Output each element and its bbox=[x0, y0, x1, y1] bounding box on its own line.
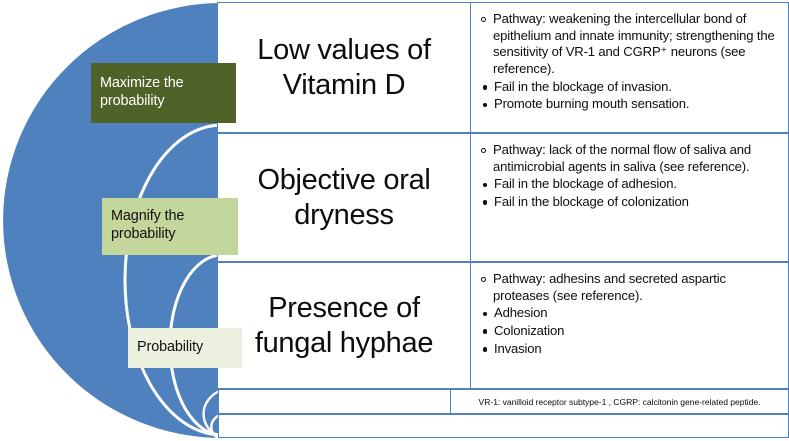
factor-title-box-2[interactable]: Objective oral dryness bbox=[217, 133, 471, 262]
probability-label-maximize[interactable]: Maximize the probability bbox=[91, 63, 236, 123]
empty-bottom-box[interactable] bbox=[218, 414, 789, 438]
factor-detail-box-1[interactable]: Pathway: weakening the intercellular bon… bbox=[470, 2, 789, 133]
factor-title-box-3[interactable]: Presence of fungal hyphae bbox=[217, 262, 471, 389]
footnote-text: VR-1: vanilloid receptor subtype-1 , CGR… bbox=[479, 397, 761, 407]
list-item: Fail in the blockage of invasion. bbox=[481, 79, 781, 96]
diagram-canvas: Maximize the probability Magnify the pro… bbox=[0, 0, 789, 441]
probability-label-maximize-line2: probability bbox=[100, 93, 184, 111]
list-item: Pathway: weakening the intercellular bon… bbox=[481, 11, 781, 78]
footnote-box[interactable]: VR-1: vanilloid receptor subtype-1 , CGR… bbox=[450, 389, 789, 414]
factor-detail-box-3[interactable]: Pathway: adhesins and secreted aspartic … bbox=[470, 262, 789, 389]
factor-title-2-line1: Objective oral bbox=[257, 164, 430, 196]
probability-label-probability-line1: Probability bbox=[137, 339, 203, 357]
list-item: Fail in the blockage of colonization bbox=[481, 194, 781, 211]
list-item: Promote burning mouth sensation. bbox=[481, 96, 781, 113]
factor-detail-3-list: Pathway: adhesins and secreted aspartic … bbox=[481, 271, 781, 357]
factor-title-3-line1: Presence of bbox=[268, 292, 419, 324]
factor-title-3-line2: fungal hyphae bbox=[255, 327, 433, 359]
list-item: Pathway: adhesins and secreted aspartic … bbox=[481, 271, 781, 304]
list-item: Colonization bbox=[481, 323, 781, 340]
list-item: Fail in the blockage of adhesion. bbox=[481, 176, 781, 193]
factor-title-1-line1: Low values of bbox=[257, 34, 430, 66]
list-item: Invasion bbox=[481, 341, 781, 358]
probability-label-maximize-line1: Maximize the bbox=[100, 75, 184, 93]
factor-title-box-1[interactable]: Low values of Vitamin D bbox=[217, 2, 471, 133]
factor-title-1-line2: Vitamin D bbox=[283, 69, 405, 101]
factor-detail-box-2[interactable]: Pathway: lack of the normal flow of sali… bbox=[470, 133, 789, 262]
factor-title-2-line2: dryness bbox=[294, 199, 393, 231]
factor-detail-2-list: Pathway: lack of the normal flow of sali… bbox=[481, 142, 781, 211]
probability-label-magnify-line2: probability bbox=[111, 226, 184, 244]
list-item: Pathway: lack of the normal flow of sali… bbox=[481, 142, 781, 175]
probability-label-probability[interactable]: Probability bbox=[128, 328, 242, 368]
probability-label-magnify[interactable]: Magnify the probability bbox=[102, 198, 238, 255]
probability-label-magnify-line1: Magnify the bbox=[111, 208, 184, 226]
list-item: Adhesion bbox=[481, 305, 781, 322]
factor-detail-1-list: Pathway: weakening the intercellular bon… bbox=[481, 11, 781, 113]
